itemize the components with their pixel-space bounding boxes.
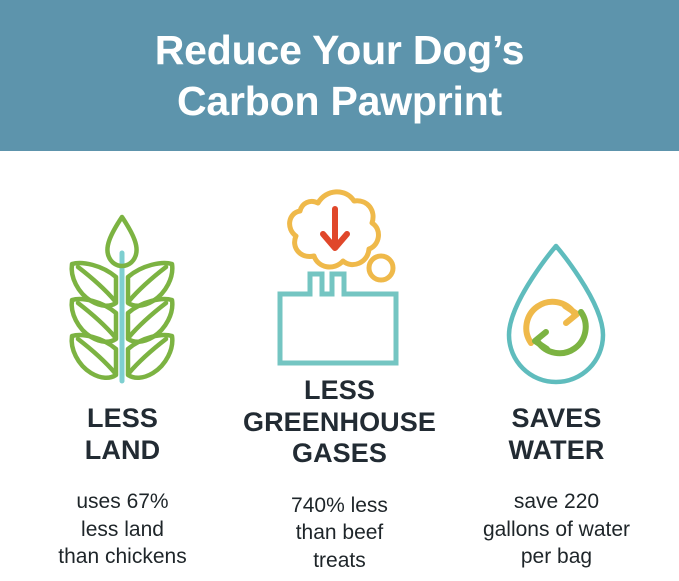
column-less-land: LESS LAND uses 67% less land than chicke…: [14, 151, 231, 571]
infographic-page: Reduce Your Dog’s Carbon Pawprint: [0, 0, 679, 581]
column-saves-water: SAVES WATER save 220 gallons of water pe…: [448, 151, 665, 571]
page-title-line-2: Carbon Pawprint: [177, 76, 502, 126]
header-banner: Reduce Your Dog’s Carbon Pawprint: [0, 0, 679, 151]
water-droplet-recycle-icon: [493, 239, 619, 391]
column-heading-saves-water: SAVES WATER: [508, 403, 604, 466]
icon-container-greenhouse-gases: [264, 151, 414, 373]
factory-emissions-icon: [264, 169, 414, 369]
column-body-less-land: uses 67% less land than chickens: [58, 488, 186, 571]
column-heading-greenhouse-gases: LESS GREENHOUSE GASES: [243, 375, 436, 470]
column-body-saves-water: save 220 gallons of water per bag: [483, 488, 630, 571]
column-less-greenhouse-gases: LESS GREENHOUSE GASES 740% less than bee…: [231, 151, 448, 574]
icon-container-less-land: [53, 151, 191, 401]
icon-container-saves-water: [493, 151, 619, 401]
page-title-line-1: Reduce Your Dog’s: [155, 25, 524, 75]
benefits-columns: LESS LAND uses 67% less land than chicke…: [0, 151, 679, 581]
plant-leaves-icon: [53, 209, 191, 389]
column-heading-less-land: LESS LAND: [85, 403, 160, 466]
column-body-greenhouse-gases: 740% less than beef treats: [291, 492, 388, 575]
